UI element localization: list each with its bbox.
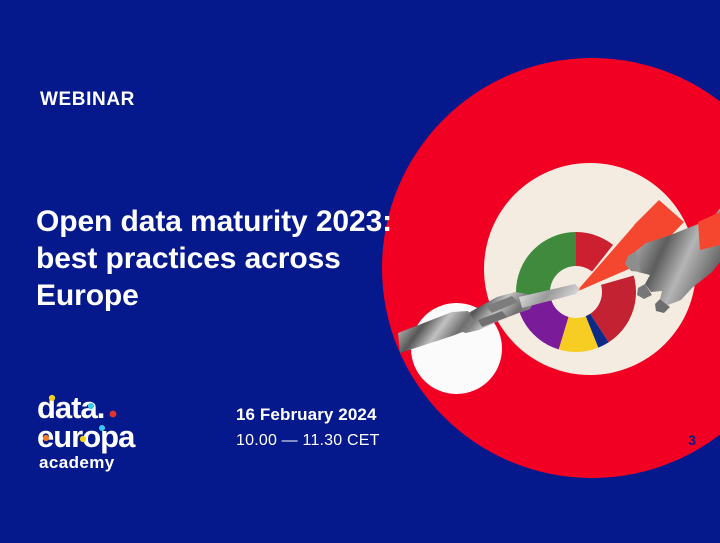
pie-chart-graphic [505, 221, 647, 363]
schedule-block: 16 February 2024 10.00 — 11.30 CET [236, 402, 380, 454]
schedule-date: 16 February 2024 [236, 402, 380, 428]
page-number: 3 [688, 433, 696, 447]
page-title: Open data maturity 2023: best practices … [36, 203, 406, 314]
pie-slice-green [512, 226, 576, 305]
logo-dot-cyan-2 [99, 425, 105, 431]
logo-wordmark-europa: europa [37, 419, 136, 454]
logo-dot-red [110, 411, 117, 418]
data-europa-academy-logo: data. europa academy [36, 392, 186, 474]
eyebrow-label: WEBINAR [40, 90, 135, 109]
schedule-time: 10.00 — 11.30 CET [236, 428, 380, 454]
logo-dot-orange [43, 435, 49, 441]
logo-dot-cyan [88, 403, 94, 409]
logo-wordmark-academy: academy [39, 453, 115, 472]
logo-dot-yellow-2 [80, 436, 86, 442]
logo-dot-yellow [49, 395, 55, 401]
white-circle-shape [411, 303, 502, 394]
webinar-slide: 3 WEBINAR Open data maturity 2023: best … [0, 0, 720, 543]
svg-text:europa: europa [37, 419, 136, 454]
